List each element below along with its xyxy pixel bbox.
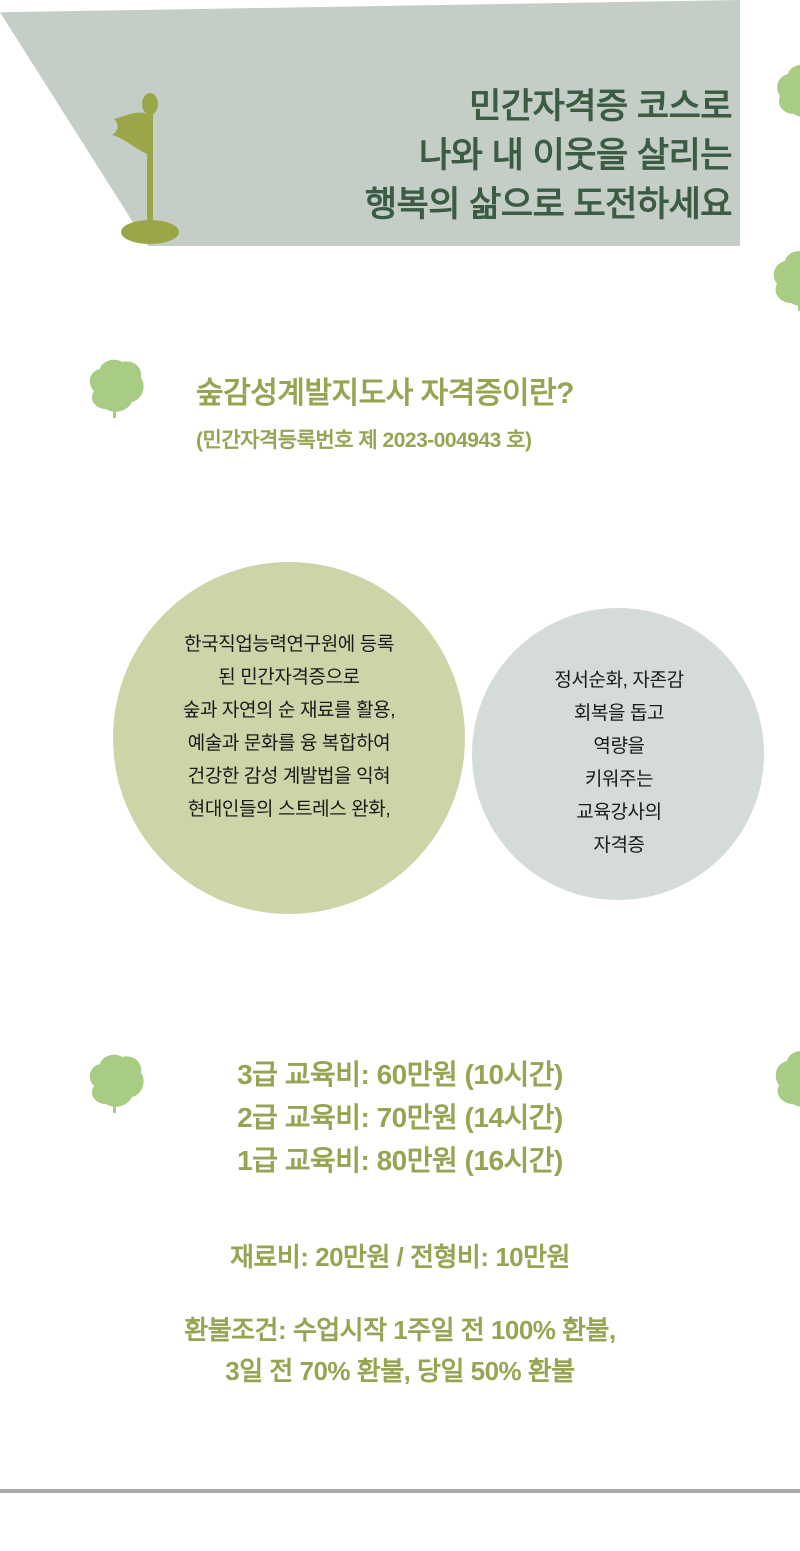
fees-text: 재료비: 20만원 / 전형비: 10만원 [100,1237,700,1274]
venn-left-text: 한국직업능력연구원에 등록 된 민간자격증으로 숲과 자연의 순 재료를 활용,… [113,628,465,826]
venn-right-line-5: 교육강사의 [478,796,760,829]
tuition-line-grade2: 2급 교육비: 70만원 (14시간) [140,1096,660,1139]
venn-right-line-3: 역량을 [478,730,760,763]
title-line-2: 나와 내 이웃을 살리는 [200,131,732,180]
footer-divider [0,1489,800,1493]
edge-tree-icon-3 [770,1048,800,1122]
golf-flag-icon [98,92,198,252]
venn-right-line-1: 정서순화, 자존감 [478,664,760,697]
edge-tree-icon-2 [768,248,800,320]
section-subheading: (민간자격등록번호 제 2023-004943 호) [196,424,531,454]
venn-right-line-2: 회복을 돕고 [478,697,760,730]
refund-policy: 환불조건: 수업시작 1주일 전 100% 환불, 3일 전 70% 환불, 당… [60,1310,740,1392]
refund-line-1: 환불조건: 수업시작 1주일 전 100% 환불, [60,1310,740,1351]
tuition-line-grade3: 3급 교육비: 60만원 (10시간) [140,1053,660,1096]
venn-left-line-5: 건강한 감성 계발법을 익혀 [113,760,465,793]
venn-left-line-1: 한국직업능력연구원에 등록 [113,628,465,661]
venn-right-text: 정서순화, 자존감 회복을 돕고 역량을 키워주는 교육강사의 자격증 [478,664,760,862]
venn-left-line-2: 된 민간자격증으로 [113,661,465,694]
venn-diagram: 한국직업능력연구원에 등록 된 민간자격증으로 숲과 자연의 순 재료를 활용,… [0,540,800,980]
edge-tree-icon-1 [772,62,800,132]
venn-right-line-6: 자격증 [478,829,760,862]
poster-title: 민간자격증 코스로 나와 내 이웃을 살리는 행복의 삶으로 도전하세요 [200,82,732,229]
venn-left-line-6: 현대인들의 스트레스 완화, [113,793,465,826]
venn-left-line-3: 숲과 자연의 순 재료를 활용, [113,694,465,727]
venn-left-line-4: 예술과 문화를 융 복합하여 [113,727,465,760]
refund-line-2: 3일 전 70% 환불, 당일 50% 환불 [60,1351,740,1392]
section-heading: 숲감성계발지도사 자격증이란? [196,368,574,412]
title-line-1: 민간자격증 코스로 [200,82,732,131]
tuition-line-grade1: 1급 교육비: 80만원 (16시간) [140,1139,660,1182]
poster-root: 민간자격증 코스로 나와 내 이웃을 살리는 행복의 삶으로 도전하세요 숲감성… [0,0,800,1551]
section-tree-icon [84,358,146,424]
title-line-3: 행복의 삶으로 도전하세요 [200,180,732,229]
pricing-tree-icon [84,1053,146,1119]
tuition-list: 3급 교육비: 60만원 (10시간) 2급 교육비: 70만원 (14시간) … [140,1053,660,1182]
venn-right-line-4: 키워주는 [478,763,760,796]
